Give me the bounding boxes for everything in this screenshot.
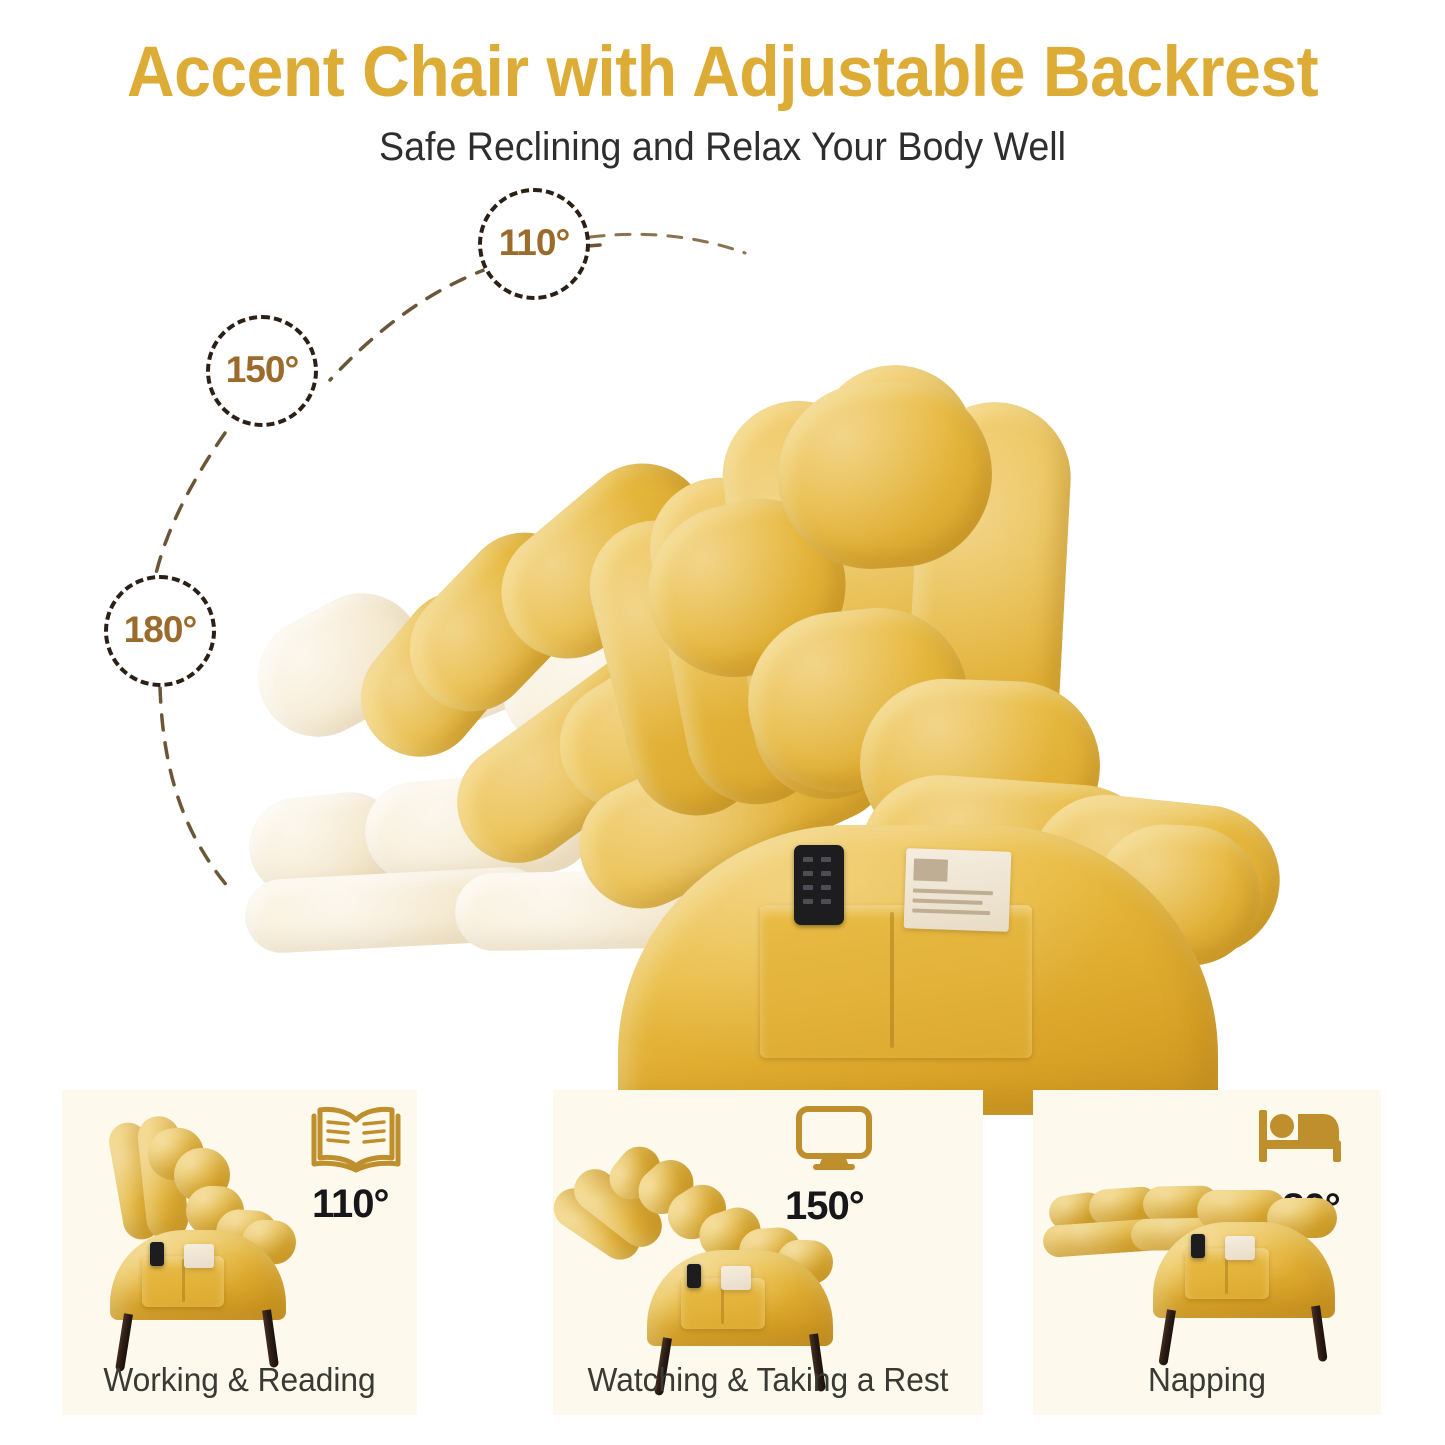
mini-chair-150 [563,1132,883,1372]
remote-control [794,845,844,925]
angle-badge-150-label: 150° [226,349,299,391]
panel-caption-watching: Watching & Taking a Rest [562,1361,975,1399]
panel-caption-reading: Working & Reading [69,1361,410,1399]
page-subtitle: Safe Reclining and Relax Your Body Well [43,125,1401,170]
usage-panels: 110° Working & Reading [0,1090,1445,1420]
angle-badge-180-label: 180° [124,609,197,651]
hero-stage: 110° 150° 180° [0,175,1445,1065]
usage-panel-napping[interactable]: 180° Napping [1033,1090,1381,1415]
mini-chair-180 [1039,1186,1379,1376]
usage-panel-reading[interactable]: 110° Working & Reading [62,1090,417,1415]
bed-icon [1255,1106,1345,1173]
chair-main [560,280,1280,1070]
magazine [904,848,1012,932]
angle-badge-180: 180° [104,575,216,687]
mini-chair-110 [90,1114,340,1364]
panel-caption-napping: Napping [1040,1361,1374,1399]
angle-badge-150: 150° [206,315,318,427]
page-title: Accent Chair with Adjustable Backrest [51,36,1395,111]
usage-panel-watching[interactable]: 150° Watching & Taking a Rest [553,1090,983,1415]
pocket-divider [890,912,894,1048]
header: Accent Chair with Adjustable Backrest Sa… [0,0,1445,170]
angle-badge-110-label: 110° [499,222,570,264]
